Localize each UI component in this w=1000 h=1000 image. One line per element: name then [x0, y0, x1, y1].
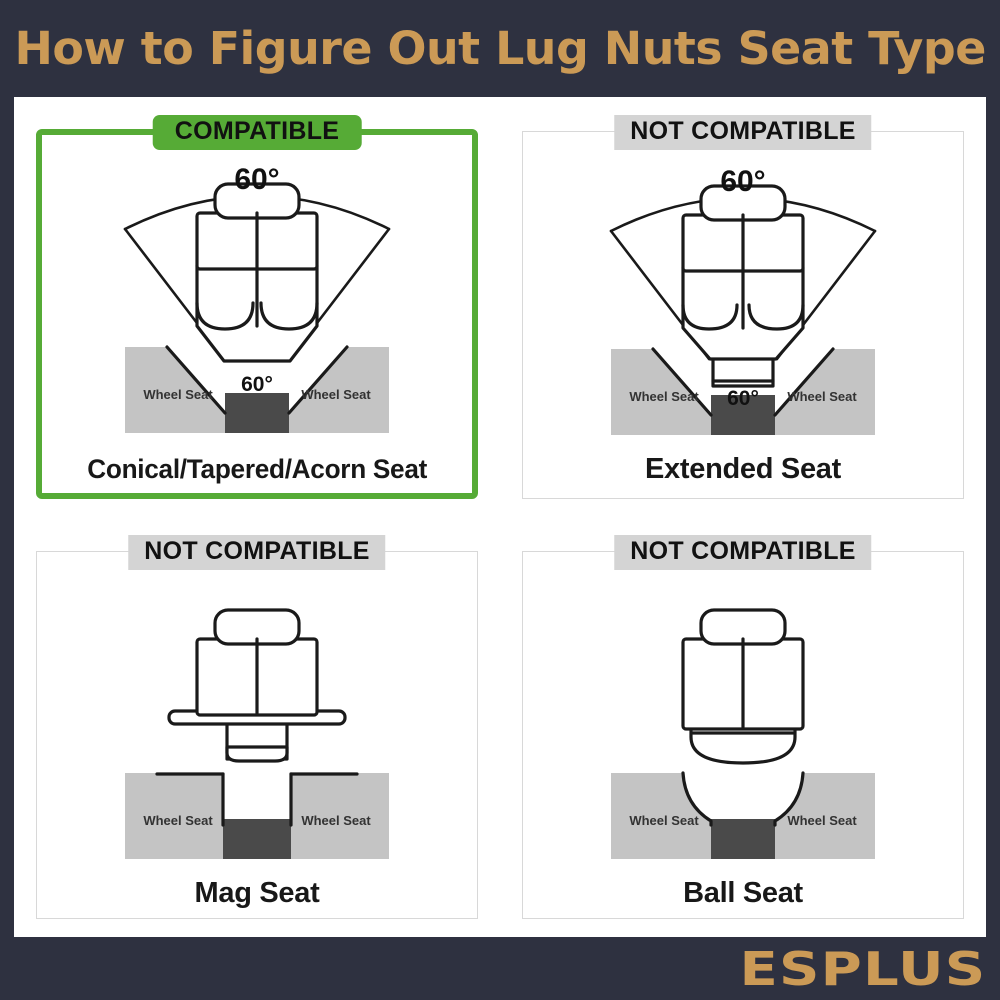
- wheel-seat-label-right: Wheel Seat: [301, 813, 371, 828]
- wheel-seat-label-left: Wheel Seat: [143, 387, 213, 402]
- wheel-seat-label-left: Wheel Seat: [143, 813, 213, 828]
- wheel-seat-label-right: Wheel Seat: [787, 389, 857, 404]
- panel-caption-mag: Mag Seat: [195, 877, 320, 910]
- panel-body-ball: Wheel Seat Wheel Seat Ball Seat: [522, 551, 964, 919]
- diagram-conical-seat: 60° 60° Wheel Seat Wheel Seat: [36, 151, 478, 454]
- panel-body-mag: Wheel Seat Wheel Seat Mag Seat: [36, 551, 478, 919]
- ball-seat-svg: Wheel Seat Wheel Seat: [543, 577, 943, 877]
- panel-grid: COMPATIBLE: [14, 97, 986, 937]
- diagram-extended-seat: 60° 60° Wheel Seat Wheel Seat: [522, 153, 964, 453]
- angle-label-bottom: 60°: [727, 387, 759, 410]
- diagram-ball-seat: Wheel Seat Wheel Seat: [522, 577, 964, 877]
- status-badge-not-compatible-mag: NOT COMPATIBLE: [128, 535, 385, 570]
- stud: [223, 819, 291, 859]
- page-title: How to Figure Out Lug Nuts Seat Type: [14, 22, 985, 75]
- panel-caption-conical: Conical/Tapered/Acorn Seat: [87, 454, 427, 485]
- title-bar: How to Figure Out Lug Nuts Seat Type: [0, 0, 1000, 97]
- panel-ball-seat[interactable]: NOT COMPATIBLE: [522, 535, 964, 919]
- panel-caption-extended: Extended Seat: [645, 453, 841, 486]
- panel-extended-seat[interactable]: NOT COMPATIBLE: [522, 115, 964, 499]
- brand-logo: ESPLUS: [739, 946, 986, 992]
- wheel-seat-label-left: Wheel Seat: [629, 813, 699, 828]
- status-badge-compatible: COMPATIBLE: [153, 115, 362, 150]
- stud: [711, 819, 775, 859]
- status-badge-not-compatible-extended: NOT COMPATIBLE: [614, 115, 871, 150]
- stud: [225, 393, 289, 433]
- panel-mag-seat[interactable]: NOT COMPATIBLE: [36, 535, 478, 919]
- infographic-page: How to Figure Out Lug Nuts Seat Type COM…: [0, 0, 1000, 1000]
- panel-conical-seat[interactable]: COMPATIBLE: [36, 115, 478, 499]
- angle-label-bottom: 60°: [241, 373, 273, 396]
- content-card: COMPATIBLE: [14, 97, 986, 937]
- wheel-seat-label-right: Wheel Seat: [301, 387, 371, 402]
- wheel-seat-label-left: Wheel Seat: [629, 389, 699, 404]
- panel-body-conical: 60° 60° Wheel Seat Wheel Seat Conical/Ta…: [36, 129, 478, 499]
- panel-body-extended: 60° 60° Wheel Seat Wheel Seat Extended S…: [522, 131, 964, 499]
- status-badge-not-compatible-ball: NOT COMPATIBLE: [614, 535, 871, 570]
- mag-shank-foot: [227, 747, 287, 761]
- footer-bar: ESPLUS: [0, 937, 1000, 1000]
- diagram-mag-seat: Wheel Seat Wheel Seat: [36, 577, 478, 877]
- extended-seat-svg: 60° 60° Wheel Seat Wheel Seat: [543, 153, 943, 453]
- ball-bottom: [691, 725, 795, 763]
- wheel-seat-label-right: Wheel Seat: [787, 813, 857, 828]
- mag-seat-svg: Wheel Seat Wheel Seat: [57, 577, 457, 877]
- conical-seat-svg: 60° 60° Wheel Seat Wheel Seat: [57, 151, 457, 451]
- angle-label-top: 60°: [720, 165, 765, 198]
- panel-caption-ball: Ball Seat: [683, 877, 803, 910]
- angle-label-top: 60°: [234, 163, 279, 196]
